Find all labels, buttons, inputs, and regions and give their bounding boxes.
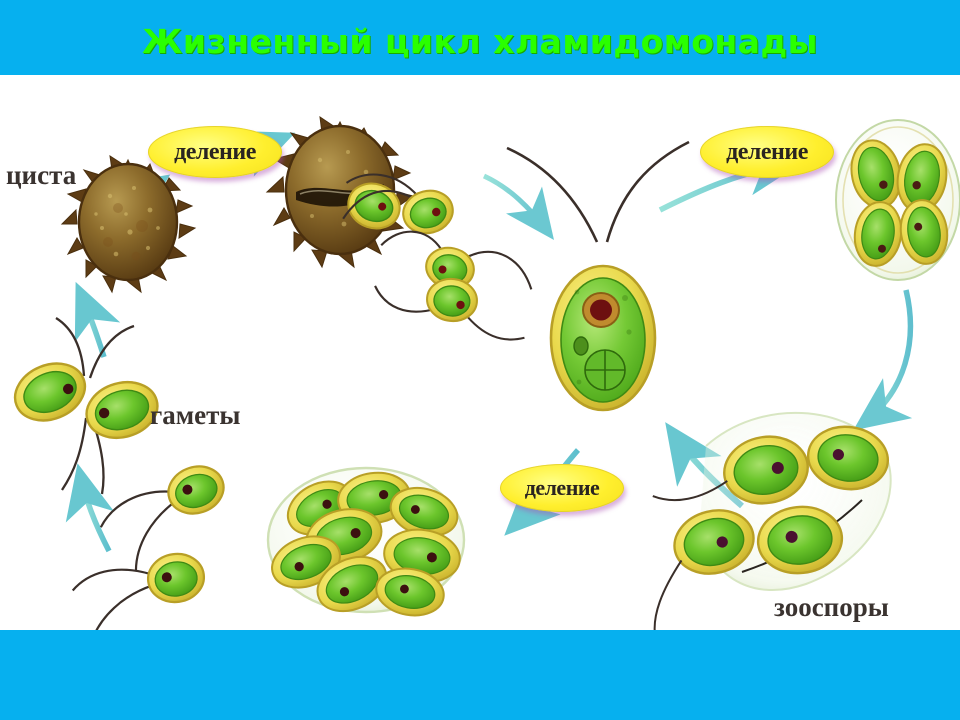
callout-division-gametes: деление <box>500 464 624 512</box>
footer-band <box>0 630 960 720</box>
page-title: Жизненный цикл хламидомонады <box>0 22 960 61</box>
arrow-gamete-chain <box>80 474 109 551</box>
adult-chlamydomonas <box>507 142 689 410</box>
callout-division-1-text: деление <box>174 139 256 166</box>
label-cyst: циста <box>6 160 76 191</box>
arrow-cells-to-adult <box>484 176 548 232</box>
slide-canvas: Жизненный цикл хламидомонады циста гамет… <box>0 0 960 720</box>
callout-division-asexual: деление <box>700 126 834 178</box>
callout-division-3-text: деление <box>525 475 600 501</box>
callout-division-cyst: деление <box>148 126 282 178</box>
gametes-fusing <box>7 318 165 494</box>
gametes-free <box>70 459 241 642</box>
dividing-cell-cluster <box>836 120 960 280</box>
arrow-gametes-to-cyst <box>80 292 104 357</box>
arrow-division-to-zoospores <box>862 290 910 424</box>
gamete-cluster <box>265 468 464 621</box>
label-gametes: гаметы <box>150 400 240 431</box>
callout-division-2-text: деление <box>726 139 808 166</box>
label-zoospores: зооспоры <box>774 592 889 623</box>
cyst <box>62 156 195 292</box>
